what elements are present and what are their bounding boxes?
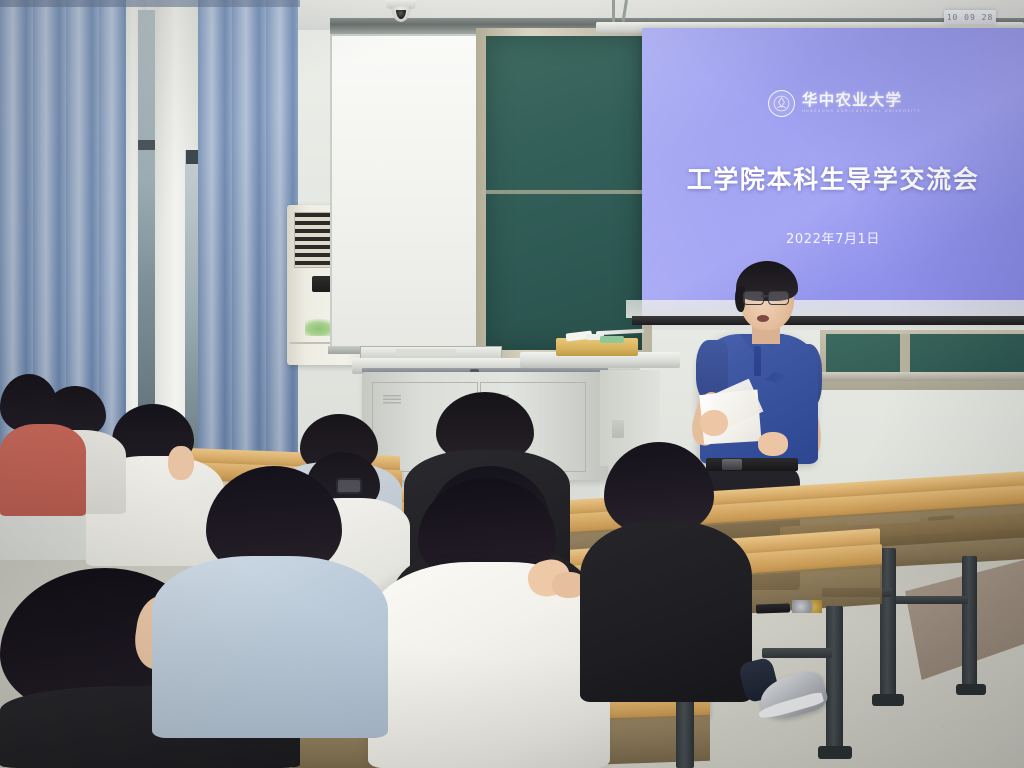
chalkboard-rail-right <box>822 372 1024 381</box>
bench-leg-row3-right <box>880 548 896 698</box>
podium-vent-left <box>383 395 401 405</box>
university-name-en: HUAZHONG AGRICULTURAL UNIVERSITY <box>802 110 921 114</box>
bench-leg-row2-right <box>826 606 843 752</box>
bench-foot-row2-right <box>818 746 852 759</box>
student-glasses-lens <box>336 478 362 494</box>
student-body-right-black <box>580 522 752 702</box>
digital-clock-display: 10 09 28 <box>944 10 996 24</box>
whiteboard[interactable] <box>330 34 480 350</box>
university-name-cn: 华中农业大学 <box>802 92 921 108</box>
speaker-hand-right <box>758 432 788 456</box>
chalkboard-right[interactable] <box>826 334 1024 372</box>
slide-date: 2022年7月1日 <box>642 228 1024 247</box>
podium-equipment-device[interactable] <box>396 349 456 356</box>
curtain-right-shading <box>198 0 298 470</box>
university-emblem-icon <box>768 90 795 117</box>
speaker-glasses-right-lens <box>768 291 789 305</box>
speaker-shirt-placket <box>754 346 761 376</box>
chalk-green[interactable] <box>600 336 624 343</box>
speaker-belt <box>706 458 798 471</box>
bench-foot-row3-right <box>872 694 904 706</box>
speaker-mouth <box>757 315 769 322</box>
student-body-blue-shirt <box>152 556 388 738</box>
digital-clock-text: 10 09 28 <box>947 13 994 22</box>
slide-university-logo: 华中农业大学 HUAZHONG AGRICULTURAL UNIVERSITY <box>768 86 918 120</box>
desk-keys[interactable] <box>792 600 822 613</box>
chalkboard-panel-divider <box>486 190 642 194</box>
speaker-belt-buckle <box>722 459 742 470</box>
curtain-rod <box>0 0 300 7</box>
chalkboard-post <box>900 334 910 376</box>
speaker-glasses-left-lens <box>743 291 764 305</box>
projection-screen-bottom-bar <box>632 316 1024 325</box>
bench-leg-row4-right <box>962 556 977 688</box>
bench-rail-row2 <box>762 648 832 658</box>
bench-foot-row4-right <box>956 684 986 695</box>
speaker-glasses-bridge <box>761 295 769 297</box>
student-body-far-5 <box>0 424 86 516</box>
podium-wall-socket[interactable] <box>612 420 624 438</box>
speaker-hand-left <box>700 410 728 436</box>
student-hand-far-3 <box>168 446 194 480</box>
desk-smartphone[interactable] <box>756 603 790 613</box>
classroom-photo-scene: 华中农业大学 HUAZHONG AGRICULTURAL UNIVERSITY … <box>0 0 1024 768</box>
slide-title: 工学院本科生导学交流会 <box>642 160 1024 196</box>
